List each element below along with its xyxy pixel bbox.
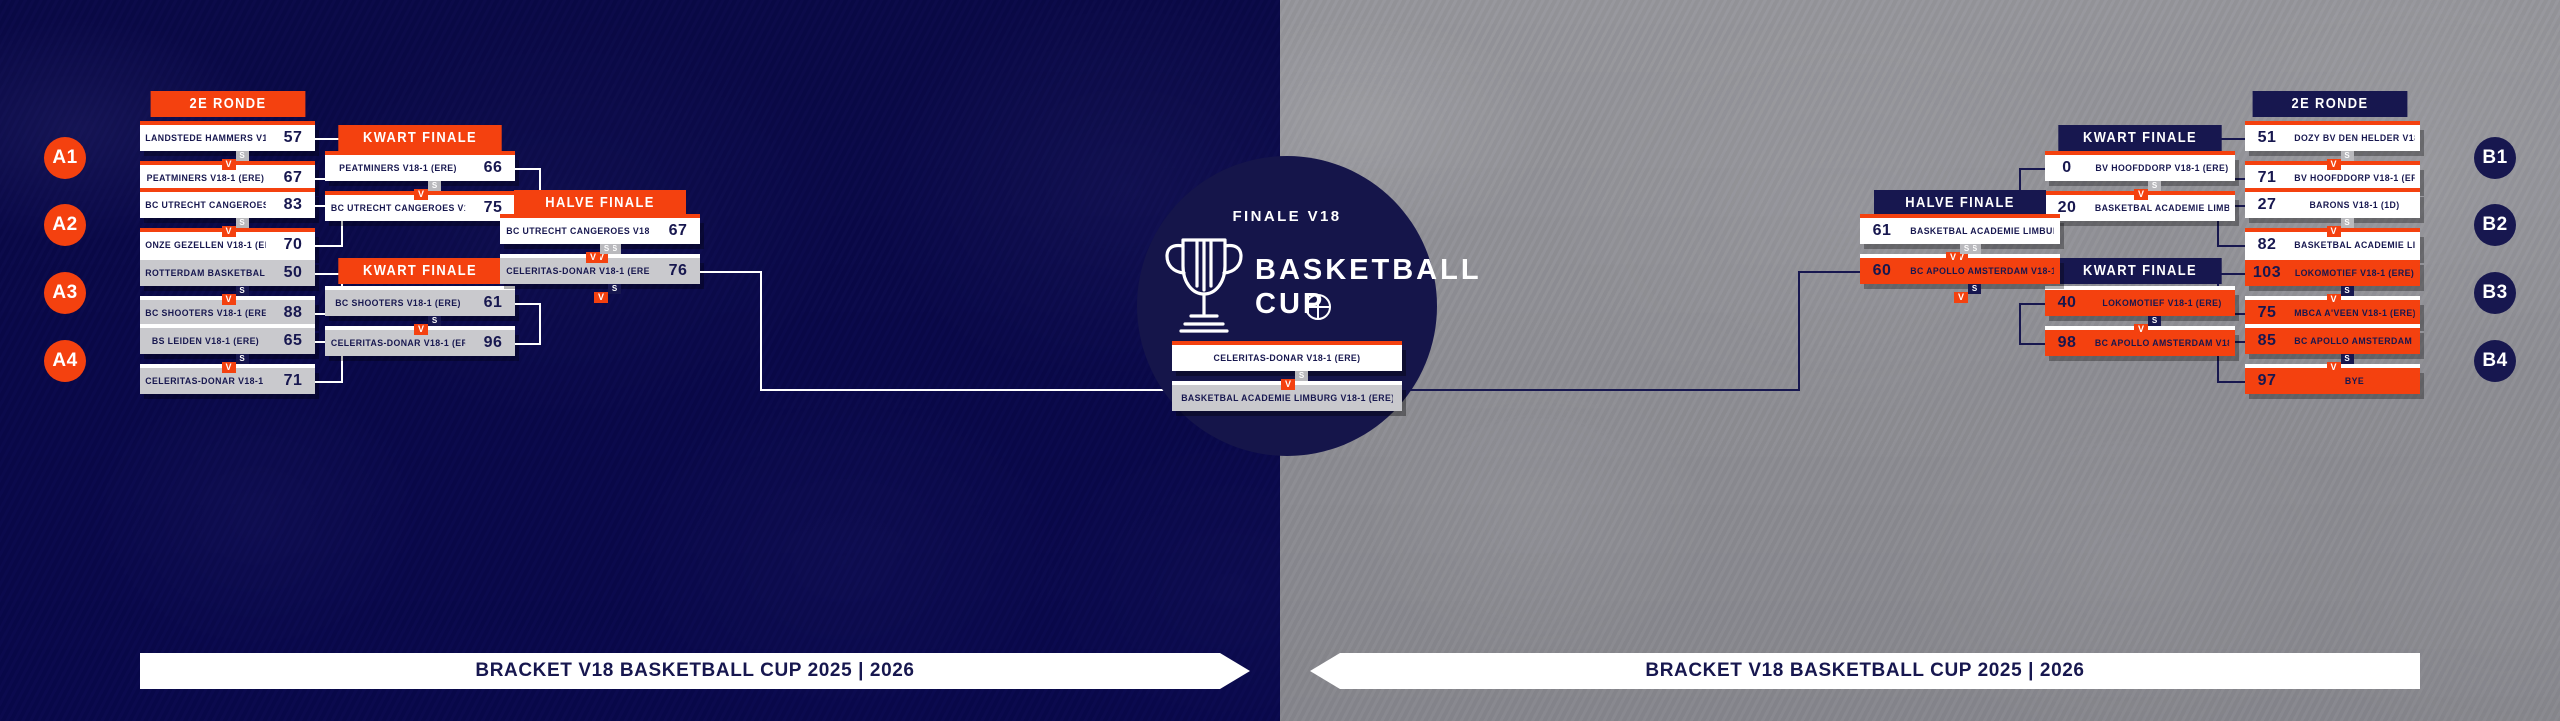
bottom-banner-left-text: BRACKET V18 BASKETBALL CUP 2025 | 2026 — [475, 660, 914, 682]
vs-s-label: S — [236, 151, 249, 161]
match-box: BC UTRECHT CANGEROES V18-1 (ERE)67SV — [500, 218, 700, 244]
vs-divider: SV — [592, 284, 626, 302]
vs-divider: SV — [2325, 218, 2359, 236]
vs-v-label: V — [2327, 159, 2341, 170]
left-round-title-quarter-bottom: KWART FINALE — [338, 258, 501, 284]
vs-divider: SV — [584, 244, 618, 262]
team-score: 27 — [2245, 196, 2289, 214]
team-score: 98 — [2045, 334, 2089, 352]
team-name: LANDSTEDE HAMMERS V18-1 (1D) — [145, 133, 266, 144]
vs-s-label: S — [600, 244, 613, 254]
team-name: PEATMINERS V18-1 (ERE) — [145, 173, 266, 184]
team-name: DOZY BV DEN HELDER V18-1 (1D) — [2294, 133, 2415, 144]
team-score: 88 — [271, 304, 315, 322]
match-box: BS LEIDEN V18-1 (ERE)65SVCELERITAS-DONAR… — [140, 328, 315, 394]
right-round-title-quarter-bottom: KWART FINALE — [2058, 258, 2221, 284]
vs-v-label: V — [2327, 226, 2341, 237]
team-name: BC UTRECHT CANGEROES V18-1 (ERE) — [506, 226, 650, 237]
connector-line — [2019, 303, 2021, 343]
vs-divider: SV — [2325, 354, 2359, 372]
row-accent — [2245, 256, 2420, 260]
team-score: 97 — [2245, 372, 2289, 390]
bottom-banner-right: BRACKET V18 BASKETBALL CUP 2025 | 2026 — [1310, 653, 2420, 689]
match-box: 61BASKETBAL ACADEMIE LIMBURG V18-1 (ERE)… — [1860, 218, 2060, 244]
team-score: 67 — [271, 169, 315, 187]
cup-wordmark: BASKETBALL CUP — [1255, 256, 1482, 319]
team-name: BC SHOOTERS V18-1 (ERE) — [331, 298, 465, 309]
vs-v-label: V — [594, 292, 608, 303]
match-box: BC UTRECHT CANGEROES V18-1 (ERE)83SVONZE… — [140, 192, 315, 258]
team-score: 61 — [1860, 222, 1904, 240]
match-row[interactable]: 40LOKOMOTIEF V18-1 (ERE) — [2045, 290, 2235, 316]
row-accent — [2245, 121, 2420, 125]
connector-line — [2019, 343, 2045, 345]
vs-v-label: V — [222, 159, 236, 170]
match-row[interactable]: BC UTRECHT CANGEROES V18-1 (ERE)67 — [500, 218, 700, 244]
vs-s-label: S — [428, 316, 441, 326]
vs-s-label: S — [2148, 181, 2161, 191]
team-score: 57 — [271, 129, 315, 147]
seed-badge-a4: A4 — [44, 340, 86, 382]
row-accent — [140, 188, 315, 192]
row-accent — [2245, 188, 2420, 192]
seed-badge-a3: A3 — [44, 272, 86, 314]
vs-s-label: S — [1295, 371, 1308, 381]
team-name: LOKOMOTIEF V18-1 (ERE) — [2095, 298, 2229, 309]
trophy-icon — [1159, 228, 1249, 340]
team-name: BC UTRECHT CANGEROES V18-1 (ERE) — [145, 200, 266, 211]
team-score: 103 — [2245, 264, 2289, 282]
vs-v-label: V — [414, 324, 428, 335]
right-round-title-semi: HALVE FINALE — [1874, 190, 2046, 216]
bracket-root: 2E RONDELANDSTEDE HAMMERS V18-1 (1D)57SV… — [0, 0, 2560, 721]
team-score: 40 — [2045, 294, 2089, 312]
left-round-title-second: 2E RONDE — [151, 91, 306, 117]
connector-line — [2019, 168, 2045, 170]
match-row[interactable]: 61BASKETBAL ACADEMIE LIMBURG V18-1 (ERE) — [1860, 218, 2060, 244]
vs-s-label: S — [608, 284, 621, 294]
left-round-title-quarter-top: KWART FINALE — [338, 125, 501, 151]
team-score: 82 — [2245, 236, 2289, 254]
team-score: 51 — [2245, 129, 2289, 147]
connector-line — [2217, 245, 2245, 247]
connector-line — [515, 168, 541, 170]
row-accent — [140, 121, 315, 125]
team-name: BASKETBAL ACADEMIE LIMBURG V18-1 (ERE) — [1181, 393, 1393, 404]
row-accent — [140, 256, 315, 260]
finale-label: FINALE V18 — [1137, 208, 1437, 225]
team-name: BV HOOFDDORP V18-1 (ERE) — [2095, 163, 2229, 174]
vs-s-label: S — [2341, 151, 2354, 161]
row-accent — [325, 151, 515, 155]
match-box: 103LOKOMOTIEF V18-1 (ERE)SV75MBCA A'VEEN… — [2245, 260, 2420, 326]
vs-v-label: V — [2327, 362, 2341, 373]
seed-badge-b2: B2 — [2474, 204, 2516, 246]
team-name: LOKOMOTIEF V18-1 (ERE) — [2294, 268, 2415, 279]
team-score: 60 — [1860, 262, 1904, 280]
team-name: BASKETBAL ACADEMIE LIMBURG V18-1 (ERE) — [2095, 203, 2229, 214]
connector-line — [2019, 303, 2045, 305]
match-box: 51DOZY BV DEN HELDER V18-1 (1D)SV71BV HO… — [2245, 125, 2420, 191]
team-name: BASKETBAL ACADEMIE LIMBURG V18-1 (ERE) — [2294, 240, 2415, 251]
team-name: BC APOLLO AMSTERDAM V18-1 (ERE) — [2294, 336, 2415, 347]
connector-line — [760, 271, 762, 391]
vs-divider: SV — [2132, 181, 2166, 199]
team-name: MBCA A'VEEN V18-1 (ERE) — [2294, 308, 2415, 319]
vs-divider: SV — [220, 218, 254, 236]
team-score: 70 — [271, 236, 315, 254]
vs-v-label: V — [1954, 292, 1968, 303]
seed-badge-a2: A2 — [44, 204, 86, 246]
row-accent — [2045, 286, 2235, 290]
match-row[interactable]: BC SHOOTERS V18-1 (ERE)61 — [325, 290, 515, 316]
seed-badge-b3: B3 — [2474, 272, 2516, 314]
row-accent — [325, 286, 515, 290]
vs-v-label: V — [586, 252, 600, 263]
match-row[interactable]: LANDSTEDE HAMMERS V18-1 (1D)57 — [140, 125, 315, 151]
match-row[interactable]: 27BARONS V18-1 (1D) — [2245, 192, 2420, 218]
team-score: 71 — [2245, 169, 2289, 187]
seed-badge-b1: B1 — [2474, 137, 2516, 179]
connector-line — [515, 343, 541, 345]
team-name: BC SHOOTERS V18-1 (ERE) — [145, 308, 266, 319]
match-box: PEATMINERS V18-1 (ERE)66SVBC UTRECHT CAN… — [325, 155, 515, 221]
vs-v-label: V — [2134, 189, 2148, 200]
final-circle: FINALE V18 BASKETBALL CUP — [1137, 156, 1437, 456]
vs-divider: SV — [2325, 286, 2359, 304]
team-name: BC APOLLO AMSTERDAM V18-1 (ERE) — [2095, 338, 2229, 349]
seed-badge-b4: B4 — [2474, 340, 2516, 382]
team-name: BC UTRECHT CANGEROES V18-1 (ERE) — [331, 203, 465, 214]
seed-badge-a1: A1 — [44, 137, 86, 179]
vs-divider: SV — [2325, 151, 2359, 169]
right-round-title-second: 2E RONDE — [2253, 91, 2408, 117]
wordmark-basketball: BASKETBALL — [1255, 256, 1482, 285]
team-score: 76 — [656, 262, 700, 280]
connector-line — [315, 245, 343, 247]
match-row[interactable]: ROTTERDAM BASKETBAL V18-1 (1D)50 — [140, 260, 315, 286]
match-box: 27BARONS V18-1 (1D)SV82BASKETBAL ACADEMI… — [2245, 192, 2420, 258]
vs-divider: SV — [220, 286, 254, 304]
row-accent — [2045, 151, 2235, 155]
team-name: CELERITAS-DONAR V18-1 (ERE) — [1181, 353, 1393, 364]
team-name: CELERITAS-DONAR V18-1 (ERE) — [331, 338, 465, 349]
row-accent — [500, 214, 700, 218]
connector-line — [1798, 271, 1800, 391]
team-score: 96 — [471, 334, 515, 352]
vs-s-label: S — [236, 286, 249, 296]
team-name: BV HOOFDDORP V18-1 (ERE) — [2294, 173, 2415, 184]
connector-line — [2217, 381, 2245, 383]
vs-v-label: V — [2327, 294, 2341, 305]
connector-line — [1378, 389, 1800, 391]
match-box: BC SHOOTERS V18-1 (ERE)61SVCELERITAS-DON… — [325, 290, 515, 356]
vs-v-label: V — [2134, 324, 2148, 335]
vs-s-label: S — [236, 218, 249, 228]
team-name: CELERITAS-DONAR V18-1 (ERE) — [145, 376, 266, 387]
vs-s-label: S — [236, 354, 249, 364]
match-row[interactable]: 103LOKOMOTIEF V18-1 (ERE) — [2245, 260, 2420, 286]
vs-divider: SV — [220, 354, 254, 372]
left-round-title-semi: HALVE FINALE — [514, 190, 686, 216]
team-score: 65 — [271, 332, 315, 350]
vs-divider: SV — [2132, 316, 2166, 334]
wordmark-cup: CUP — [1255, 290, 1482, 319]
vs-s-label: S — [2148, 316, 2161, 326]
vs-divider: S V — [1279, 371, 1313, 389]
vs-s-label: S — [1968, 284, 1981, 294]
bottom-banner-left: BRACKET V18 BASKETBALL CUP 2025 | 2026 — [140, 653, 1250, 689]
team-name: BC APOLLO AMSTERDAM V18-1 (ERE) — [1910, 266, 2054, 277]
team-score: 67 — [656, 222, 700, 240]
team-score: 83 — [271, 196, 315, 214]
team-name: BS LEIDEN V18-1 (ERE) — [145, 336, 266, 347]
team-score: 61 — [471, 294, 515, 312]
vs-divider: SV — [1944, 244, 1978, 262]
team-name: BASKETBAL ACADEMIE LIMBURG V18-1 (ERE) — [1910, 226, 2054, 237]
row-accent — [140, 324, 315, 328]
vs-divider: SV — [220, 151, 254, 169]
connector-line — [760, 389, 1180, 391]
connector-line — [700, 271, 762, 273]
basketball-cup-logo: BASKETBALL CUP — [1159, 228, 1415, 340]
row-accent — [1172, 341, 1402, 345]
match-row[interactable]: 51DOZY BV DEN HELDER V18-1 (1D) — [2245, 125, 2420, 151]
match-row[interactable]: 0BV HOOFDDORP V18-1 (ERE) — [2045, 155, 2235, 181]
team-name: PEATMINERS V18-1 (ERE) — [331, 163, 465, 174]
connector-line — [315, 381, 343, 383]
team-score: 66 — [471, 159, 515, 177]
final-match: CELERITAS-DONAR V18-1 (ERE) S V BASKETBA… — [1172, 345, 1402, 411]
team-score: 71 — [271, 372, 315, 390]
vs-s-label: S — [2341, 218, 2354, 228]
row-accent — [1860, 214, 2060, 218]
connector-line — [539, 303, 541, 343]
vs-v-label: V — [222, 294, 236, 305]
team-score: 85 — [2245, 332, 2289, 350]
basketball-icon — [1305, 294, 1331, 320]
vs-s-label: S — [1960, 244, 1973, 254]
vs-s-label: S — [2341, 286, 2354, 296]
vs-v-label: V — [414, 189, 428, 200]
vs-v-label: V — [222, 226, 236, 237]
match-box: 85BC APOLLO AMSTERDAM V18-1 (ERE)SV97BYE — [2245, 328, 2420, 394]
team-name: ROTTERDAM BASKETBAL V18-1 (1D) — [145, 268, 266, 279]
vs-v-label: V — [1281, 379, 1295, 390]
match-row[interactable]: BC UTRECHT CANGEROES V18-1 (ERE)83 — [140, 192, 315, 218]
final-row-1[interactable]: CELERITAS-DONAR V18-1 (ERE) — [1172, 345, 1402, 371]
bottom-banner-right-text: BRACKET V18 BASKETBALL CUP 2025 | 2026 — [1645, 660, 2084, 682]
team-name: BYE — [2294, 376, 2415, 387]
match-row[interactable]: BS LEIDEN V18-1 (ERE)65 — [140, 328, 315, 354]
row-accent — [2245, 324, 2420, 328]
team-score: 0 — [2045, 159, 2089, 177]
vs-divider: SV — [1952, 284, 1986, 302]
team-name: ONZE GEZELLEN V18-1 (ERE) — [145, 240, 266, 251]
team-name: CELERITAS-DONAR V18-1 (ERE) — [506, 266, 650, 277]
vs-s-label: S — [2341, 354, 2354, 364]
vs-divider: SV — [412, 316, 446, 334]
connector-line — [1798, 271, 1860, 273]
vs-s-label: S — [428, 181, 441, 191]
match-row[interactable]: 85BC APOLLO AMSTERDAM V18-1 (ERE) — [2245, 328, 2420, 354]
match-box: ROTTERDAM BASKETBAL V18-1 (1D)50SVBC SHO… — [140, 260, 315, 326]
match-box: 40LOKOMOTIEF V18-1 (ERE)SV98BC APOLLO AM… — [2045, 290, 2235, 356]
team-score: 50 — [271, 264, 315, 282]
match-box: 0BV HOOFDDORP V18-1 (ERE)SV20BASKETBAL A… — [2045, 155, 2235, 221]
vs-divider: SV — [412, 181, 446, 199]
right-round-title-quarter-top: KWART FINALE — [2058, 125, 2221, 151]
match-box: LANDSTEDE HAMMERS V18-1 (1D)57SVPEATMINE… — [140, 125, 315, 191]
match-row[interactable]: PEATMINERS V18-1 (ERE)66 — [325, 155, 515, 181]
connector-line — [515, 303, 541, 305]
vs-v-label: V — [1946, 252, 1960, 263]
team-name: BARONS V18-1 (1D) — [2294, 200, 2415, 211]
team-score: 75 — [2245, 304, 2289, 322]
vs-v-label: V — [222, 362, 236, 373]
